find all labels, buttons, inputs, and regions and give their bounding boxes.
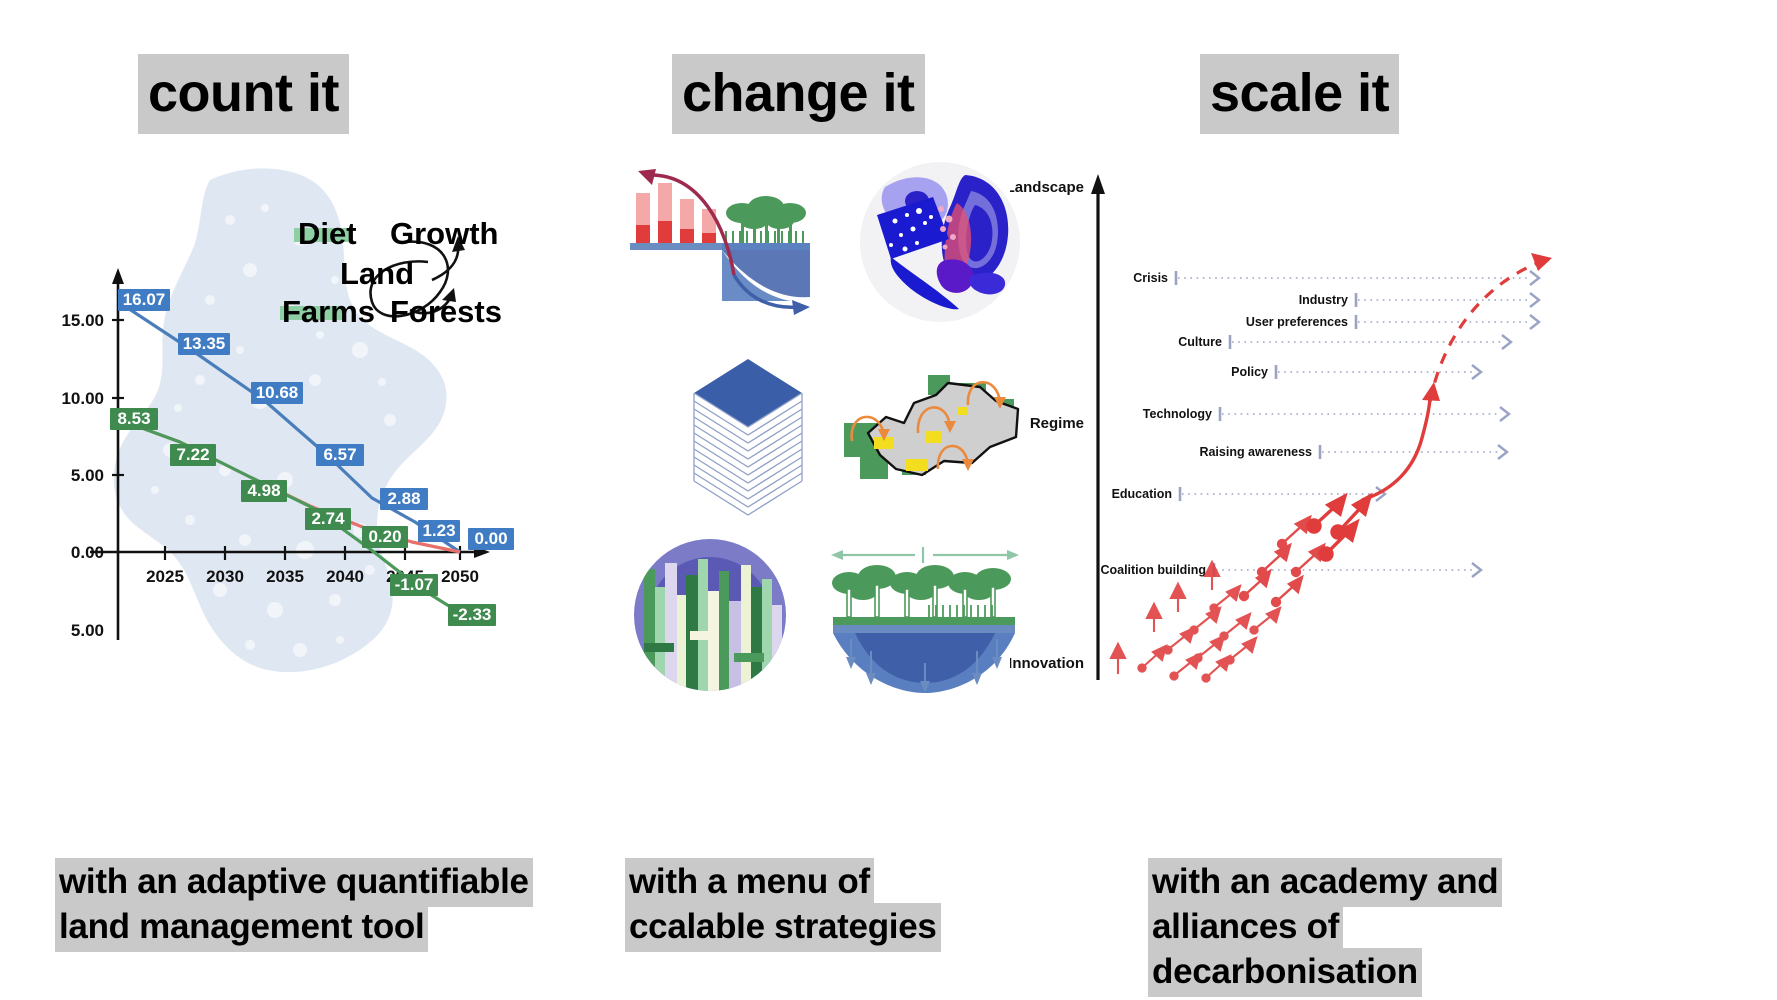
value-label: 10.68 xyxy=(256,383,299,402)
panel-change-it xyxy=(640,165,1040,695)
level-label: Crisis xyxy=(1133,271,1168,285)
x-curve-transition-diagram: Landscape Regime Innovation xyxy=(1010,150,1770,710)
caption-line: with an adaptive quantifiable xyxy=(55,858,533,907)
value-label: 13.35 xyxy=(183,334,226,353)
xcurve-axis-label-landscape: Landscape xyxy=(1010,179,1084,196)
caption-count-it: with an adaptive quantifiable land manag… xyxy=(55,860,575,950)
legend-label-farms: Farms xyxy=(282,294,375,329)
value-label: 2.88 xyxy=(387,489,420,508)
y-tick-label: 0.00 xyxy=(71,543,104,562)
legend-label-diet: Diet xyxy=(298,216,357,251)
caption-line: alliances of xyxy=(1148,903,1343,952)
caption-scale-it: with an academy and alliances of decarbo… xyxy=(1148,860,1568,994)
y-tick-label: 5.00 xyxy=(71,621,104,640)
level-label: Education xyxy=(1112,487,1172,501)
layered-stack-icon[interactable] xyxy=(688,355,808,530)
crop-mosaic-icon[interactable] xyxy=(630,535,790,700)
level-label: Raising awareness xyxy=(1199,445,1312,459)
xcurve-innovation-swarm xyxy=(1111,496,1370,682)
heading-count: count it xyxy=(138,66,349,120)
x-tick-label: 2030 xyxy=(206,567,244,586)
caption-line: with an academy and xyxy=(1148,858,1502,907)
legend-label-forests: Forests xyxy=(390,294,502,329)
level-label: Culture xyxy=(1178,335,1222,349)
caption-line: with a menu of xyxy=(625,858,874,907)
value-label: 7.22 xyxy=(176,445,209,464)
panel-scale-it: Landscape Regime Innovation xyxy=(1010,150,1770,710)
value-label: -1.07 xyxy=(395,575,434,594)
x-tick-label: 2035 xyxy=(266,567,304,586)
heading-count-text: count it xyxy=(138,54,349,134)
value-label: 2.74 xyxy=(311,509,345,528)
caption-line: decarbonisation xyxy=(1148,948,1422,997)
legend-label-land: Land xyxy=(340,256,414,291)
level-label: Technology xyxy=(1143,407,1212,421)
heading-change: change it xyxy=(672,66,925,120)
value-label: 0.00 xyxy=(474,529,507,548)
caption-change-it: with a menu of ccalable strategies xyxy=(625,860,1005,950)
emissions-reversal-icon[interactable] xyxy=(630,165,815,330)
y-tick-label: 5.00 xyxy=(71,466,104,485)
xcurve-axis-label-innovation: Innovation xyxy=(1010,655,1084,672)
value-label: 6.57 xyxy=(323,445,356,464)
x-tick-label: 2040 xyxy=(326,567,364,586)
heading-scale: scale it xyxy=(1200,66,1399,120)
x-tick-label: 2025 xyxy=(146,567,184,586)
xcurve-level-arrowheads xyxy=(1376,271,1539,577)
x-tick-label: 2050 xyxy=(441,567,479,586)
value-label: 1.23 xyxy=(422,521,455,540)
value-label: 0.20 xyxy=(368,527,401,546)
value-label: -2.33 xyxy=(453,605,492,624)
chart-y-ticks: 15.00 10.00 5.00 0.00 5.00 xyxy=(61,311,124,640)
y-tick-label: 10.00 xyxy=(61,389,104,408)
level-label: User preferences xyxy=(1246,315,1348,329)
xcurve-main-trajectory xyxy=(1362,382,1440,500)
caption-line: ccalable strategies xyxy=(625,903,941,952)
biodiversity-scan-icon[interactable] xyxy=(855,157,1025,332)
panel-count-it: 15.00 10.00 5.00 0.00 5.00 2025 2030 203… xyxy=(60,150,620,730)
level-label: Industry xyxy=(1299,293,1348,307)
legend-label-growth: Growth xyxy=(390,216,499,251)
y-tick-label: 15.00 xyxy=(61,311,104,330)
land-use-map-icon[interactable] xyxy=(840,365,1030,505)
land-emissions-line-chart: 15.00 10.00 5.00 0.00 5.00 2025 2030 203… xyxy=(60,150,620,730)
xcurve-axis-label-regime: Regime xyxy=(1030,415,1084,432)
heading-change-text: change it xyxy=(672,54,925,134)
value-label: 8.53 xyxy=(117,409,150,428)
xcurve-axis xyxy=(1091,174,1105,680)
value-label: 4.98 xyxy=(247,481,280,500)
infographic-canvas: count it change it scale it xyxy=(0,0,1777,1000)
value-label: 16.07 xyxy=(123,290,166,309)
caption-line: land management tool xyxy=(55,903,428,952)
level-label: Policy xyxy=(1231,365,1268,379)
level-label: Coalition building xyxy=(1100,563,1206,577)
heading-scale-text: scale it xyxy=(1200,54,1399,134)
forest-cross-section-icon[interactable] xyxy=(825,547,1025,702)
